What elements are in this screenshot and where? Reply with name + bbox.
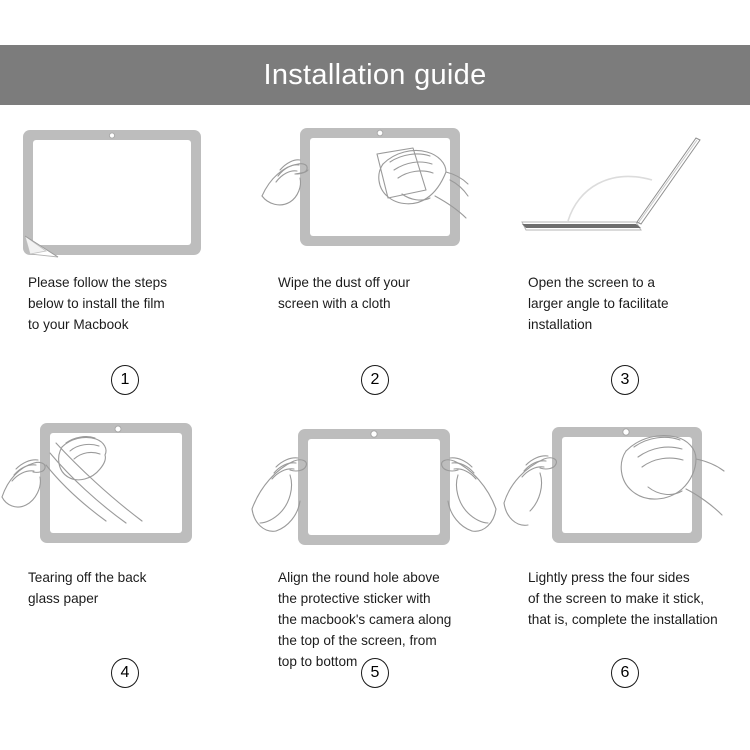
step-caption-5: Align the round hole above the protectiv… — [250, 567, 500, 672]
step-number-badge-1: 1 — [111, 365, 139, 395]
illustration-step-1 — [0, 118, 250, 266]
illustration-step-4 — [0, 413, 250, 561]
step-cell-2: Wipe the dust off your screen with a clo… — [250, 118, 500, 413]
step-number-badge-6: 6 — [611, 658, 639, 688]
step-caption-4: Tearing off the back glass paper — [0, 567, 250, 609]
header-bar: Installation guide — [0, 45, 750, 105]
step-number-badge-5: 5 — [361, 658, 389, 688]
step-caption-1: Please follow the steps below to install… — [0, 272, 250, 338]
illustration-step-3 — [500, 118, 750, 266]
step-cell-6: Lightly press the four sides of the scre… — [500, 413, 750, 672]
page-title: Installation guide — [263, 61, 486, 90]
step-cell-1: Please follow the steps below to install… — [0, 118, 250, 413]
step-badge-wrap-1: 1 — [0, 365, 250, 395]
step-cell-4: Tearing off the back glass paper 4 — [0, 413, 250, 672]
step-number-badge-2: 2 — [361, 365, 389, 395]
step-cell-3: Open the screen to a larger angle to fac… — [500, 118, 750, 413]
step-number-badge-4: 4 — [111, 658, 139, 688]
step-badge-wrap-2: 2 — [250, 365, 500, 395]
step-badge-wrap-5: 5 — [250, 658, 500, 688]
illustration-step-5 — [250, 413, 500, 561]
step-badge-wrap-6: 6 — [500, 658, 750, 688]
step-caption-2: Wipe the dust off your screen with a clo… — [250, 272, 500, 338]
illustration-step-6 — [500, 413, 750, 561]
step-cell-5: Align the round hole above the protectiv… — [250, 413, 500, 672]
illustration-step-2 — [250, 118, 500, 266]
step-badge-wrap-4: 4 — [0, 658, 250, 688]
step-caption-3: Open the screen to a larger angle to fac… — [500, 272, 750, 338]
installation-steps-grid: Please follow the steps below to install… — [0, 118, 750, 672]
step-number-badge-3: 3 — [611, 365, 639, 395]
step-badge-wrap-3: 3 — [500, 365, 750, 395]
step-caption-6: Lightly press the four sides of the scre… — [500, 567, 750, 630]
